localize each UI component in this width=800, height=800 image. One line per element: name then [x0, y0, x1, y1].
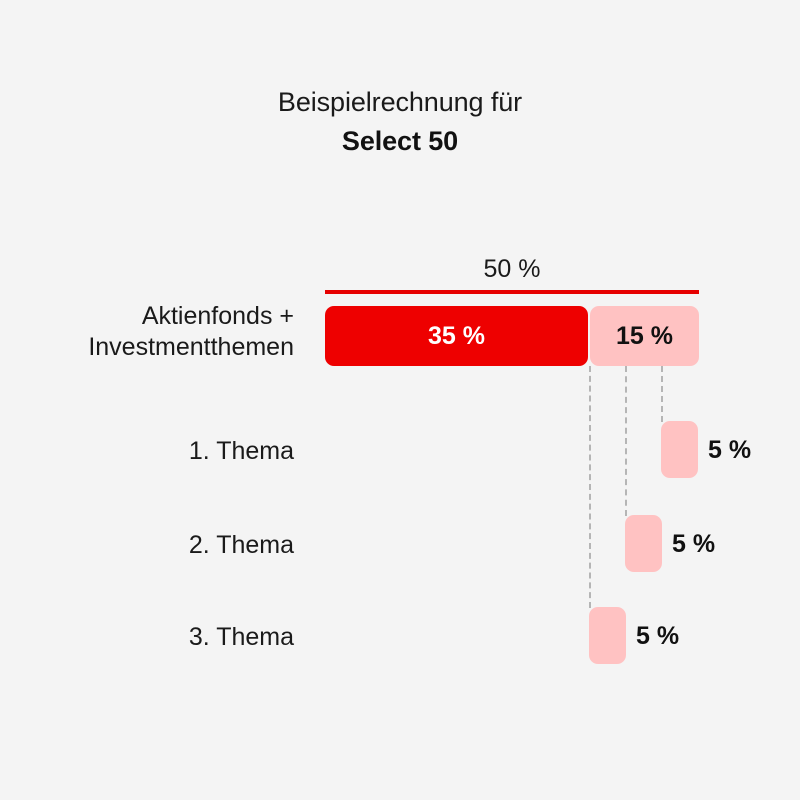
guide-line-thema-2: [625, 366, 627, 516]
row-label-aktienfonds: Aktienfonds + Investmentthemen: [34, 301, 294, 362]
total-rule-line: [325, 290, 699, 294]
bar-thema-1: [661, 421, 698, 478]
bar-segment-investmentthemen: 15 %: [590, 306, 699, 366]
chart-title-block: Beispielrechnung für Select 50: [0, 86, 800, 159]
row-label-aktienfonds-line-2: Investmentthemen: [34, 332, 294, 363]
value-label-thema-2: 5 %: [672, 530, 715, 559]
chart-canvas: Beispielrechnung für Select 50 50 % Akti…: [0, 0, 800, 800]
bar-thema-2: [625, 515, 662, 572]
value-label-thema-3: 5 %: [636, 622, 679, 651]
bar-segment-aktienfonds: 35 %: [325, 306, 588, 366]
chart-title-line-2: Select 50: [0, 125, 800, 158]
value-label-thema-1: 5 %: [708, 436, 751, 465]
chart-title-line-1: Beispielrechnung für: [0, 86, 800, 119]
row-label-thema-1: 1. Thema: [34, 436, 294, 467]
guide-line-thema-1: [661, 366, 663, 422]
row-label-thema-2: 2. Thema: [34, 530, 294, 561]
row-label-thema-3: 3. Thema: [34, 622, 294, 653]
bar-thema-3: [589, 607, 626, 664]
total-value-label: 50 %: [325, 255, 699, 284]
guide-line-thema-3: [589, 366, 591, 608]
row-label-aktienfonds-line-1: Aktienfonds +: [34, 301, 294, 332]
